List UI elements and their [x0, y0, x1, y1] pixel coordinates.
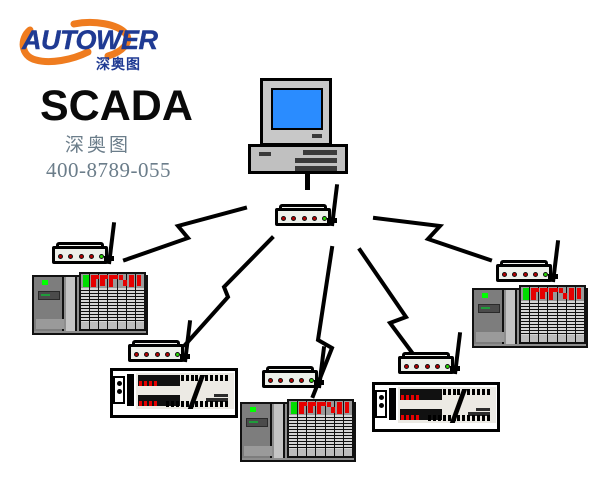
- wireless-link-site-2: [185, 238, 272, 345]
- plc-module-base: [127, 322, 135, 329]
- plc-io-bank: [519, 285, 586, 344]
- ap-led-2-icon: [68, 254, 73, 259]
- case-button-icon: [259, 152, 271, 156]
- plc-run-led-icon: [42, 280, 48, 285]
- plc-cpu-display: [38, 291, 60, 300]
- plc-io-led-group: [127, 274, 135, 288]
- controller-bottom-terminals: [428, 415, 490, 421]
- plc-terminal-rows: [539, 301, 547, 335]
- controller-knob-icon[interactable]: [375, 390, 387, 418]
- plc-io-led-group: [136, 274, 144, 288]
- central-access-point[interactable]: [275, 200, 339, 230]
- plc-io-module: [127, 274, 136, 329]
- plc-terminal-rows: [99, 288, 107, 322]
- plc-module-base: [316, 449, 324, 456]
- wireless-link-site-1: [125, 208, 245, 260]
- plc-io-module: [289, 401, 298, 456]
- plc-io-module: [530, 287, 539, 342]
- plc-io-led-group: [530, 287, 538, 301]
- plc-cpu-module: [242, 404, 272, 458]
- plc-io-module: [567, 287, 576, 342]
- site-2-access-point[interactable]: [128, 336, 192, 366]
- plc-cpu-display: [246, 418, 268, 427]
- case-drive-slot-1: [303, 150, 337, 155]
- plc-module-base: [558, 335, 566, 342]
- plc-cpu-module: [34, 277, 64, 331]
- plc-module-base: [521, 335, 529, 342]
- host-downlink-cable: [305, 172, 310, 190]
- controller-brandmark-2: [476, 408, 490, 411]
- plc-module-base: [539, 335, 547, 342]
- plc-io-led-group: [118, 274, 126, 288]
- case-drive-slot-2: [295, 158, 337, 163]
- wireless-link-site-5: [375, 218, 490, 260]
- ap-led-4-icon: [165, 352, 170, 357]
- plc-terminal-rows: [335, 415, 343, 449]
- controller-brandmark-2: [214, 394, 228, 397]
- ap-led-1-icon: [268, 378, 273, 383]
- plc-io-led-group: [539, 287, 547, 301]
- ap-led-3-icon: [79, 254, 84, 259]
- ap-led-3-icon: [425, 364, 430, 369]
- plc-terminal-rows: [530, 301, 538, 335]
- ap-led-3-icon: [155, 352, 160, 357]
- plc-terminal-rows: [136, 288, 144, 322]
- plc-terminal-rows: [558, 301, 566, 335]
- site-1-plc-rack[interactable]: [32, 275, 148, 335]
- plc-io-bank: [79, 272, 146, 331]
- plc-cpu-module: [474, 290, 504, 344]
- plc-terminal-rows: [307, 415, 315, 449]
- site-2-controller-panel[interactable]: [110, 368, 238, 418]
- ap-led-1-icon: [58, 254, 63, 259]
- plc-module-base: [81, 322, 89, 329]
- site-5-access-point[interactable]: [496, 256, 560, 286]
- plc-module-base: [530, 335, 538, 342]
- plc-io-module: [108, 274, 117, 329]
- plc-io-led-group: [307, 401, 315, 415]
- ap-led-1-icon: [134, 352, 139, 357]
- plc-terminal-rows: [548, 301, 556, 335]
- controller-side-bar: [389, 388, 396, 420]
- site-3-plc-rack[interactable]: [240, 402, 356, 462]
- ap-led-4-icon: [533, 272, 538, 277]
- monitor-screen: [271, 88, 323, 130]
- ap-led-4-icon: [89, 254, 94, 259]
- ap-led-2-icon: [512, 272, 517, 277]
- plc-io-led-group: [335, 401, 343, 415]
- plc-module-base: [576, 335, 584, 342]
- monitor-bezel: [260, 78, 332, 146]
- ap-led-4-icon: [299, 378, 304, 383]
- plc-spacer-module: [274, 404, 285, 458]
- site-1-access-point[interactable]: [52, 238, 116, 268]
- plc-module-base: [136, 322, 144, 329]
- ap-led-4-icon: [312, 216, 317, 221]
- plc-cpu-base: [476, 332, 504, 342]
- ap-led-strip: [58, 252, 104, 260]
- plc-module-base: [326, 449, 334, 456]
- plc-module-base: [90, 322, 98, 329]
- ap-led-strip: [502, 270, 548, 278]
- plc-terminal-rows: [289, 415, 297, 449]
- plc-io-module: [335, 401, 344, 456]
- site-4-access-point[interactable]: [398, 348, 462, 378]
- plc-io-module: [316, 401, 325, 456]
- ap-led-2-icon: [291, 216, 296, 221]
- ap-led-strip: [281, 214, 327, 222]
- plc-module-base: [289, 449, 297, 456]
- controller-display-top: [138, 375, 180, 386]
- ap-led-1-icon: [281, 216, 286, 221]
- plc-io-module: [558, 287, 567, 342]
- plc-io-module: [99, 274, 108, 329]
- plc-terminal-rows: [81, 288, 89, 322]
- ap-led-3-icon: [523, 272, 528, 277]
- scada-host-computer[interactable]: [248, 78, 348, 173]
- plc-io-module: [81, 274, 90, 329]
- site-4-controller-panel[interactable]: [372, 382, 500, 432]
- ap-led-strip: [268, 376, 314, 384]
- controller-bottom-terminals: [166, 401, 228, 407]
- controller-knob-icon[interactable]: [113, 376, 125, 404]
- plc-cpu-base: [36, 319, 64, 329]
- plc-run-led-icon: [482, 293, 488, 298]
- plc-terminal-rows: [326, 415, 334, 449]
- plc-module-base: [118, 322, 126, 329]
- plc-io-led-group: [298, 401, 306, 415]
- ap-led-2-icon: [414, 364, 419, 369]
- controller-side-bar: [127, 374, 134, 406]
- ap-led-3-icon: [302, 216, 307, 221]
- computer-case: [248, 144, 348, 174]
- plc-terminal-rows: [316, 415, 324, 449]
- plc-io-led-group: [326, 401, 334, 415]
- diagram-canvas: AUTOWER 深奥图 SCADA 深奥图 400-8789-055: [0, 0, 600, 480]
- plc-io-led-group: [99, 274, 107, 288]
- site-3-access-point[interactable]: [262, 362, 326, 392]
- plc-io-module: [307, 401, 316, 456]
- plc-module-base: [99, 322, 107, 329]
- controller-faceplate: [136, 373, 234, 409]
- plc-io-led-group: [316, 401, 324, 415]
- plc-module-base: [344, 449, 352, 456]
- plc-io-led-group: [289, 401, 297, 415]
- plc-terminal-rows: [576, 301, 584, 335]
- plc-terminal-rows: [567, 301, 575, 335]
- plc-io-module: [521, 287, 530, 342]
- plc-spacer-module: [66, 277, 77, 331]
- ap-led-strip: [404, 362, 450, 370]
- ap-led-2-icon: [144, 352, 149, 357]
- plc-io-module: [118, 274, 127, 329]
- plc-terminal-rows: [90, 288, 98, 322]
- ap-led-4-icon: [435, 364, 440, 369]
- plc-terminal-rows: [521, 301, 529, 335]
- plc-io-led-group: [108, 274, 116, 288]
- plc-io-module: [326, 401, 335, 456]
- case-drive-slot-3: [295, 166, 337, 171]
- monitor-indicator-icon: [312, 134, 322, 138]
- plc-io-led-group: [548, 287, 556, 301]
- plc-cpu-base: [244, 446, 272, 456]
- plc-io-module: [344, 401, 352, 456]
- ap-led-1-icon: [404, 364, 409, 369]
- plc-terminal-rows: [127, 288, 135, 322]
- plc-terminal-rows: [344, 415, 352, 449]
- ap-led-strip: [134, 350, 180, 358]
- plc-module-base: [335, 449, 343, 456]
- controller-display-top: [400, 389, 442, 400]
- plc-io-module: [539, 287, 548, 342]
- plc-io-bank: [287, 399, 354, 458]
- ap-led-2-icon: [278, 378, 283, 383]
- controller-faceplate: [398, 387, 496, 423]
- plc-io-led-group: [576, 287, 584, 301]
- ap-led-3-icon: [289, 378, 294, 383]
- site-5-plc-rack[interactable]: [472, 288, 588, 348]
- plc-module-base: [307, 449, 315, 456]
- plc-io-module: [90, 274, 99, 329]
- plc-io-module: [548, 287, 557, 342]
- plc-io-led-group: [90, 274, 98, 288]
- plc-module-base: [108, 322, 116, 329]
- plc-run-led-icon: [250, 407, 256, 412]
- plc-module-base: [567, 335, 575, 342]
- plc-terminal-rows: [108, 288, 116, 322]
- plc-terminal-rows: [118, 288, 126, 322]
- plc-io-module: [298, 401, 307, 456]
- plc-module-base: [548, 335, 556, 342]
- plc-io-module: [576, 287, 584, 342]
- plc-terminal-rows: [298, 415, 306, 449]
- plc-io-led-group: [81, 274, 89, 288]
- plc-io-led-group: [567, 287, 575, 301]
- plc-io-led-group: [344, 401, 352, 415]
- plc-spacer-module: [506, 290, 517, 344]
- plc-io-led-group: [521, 287, 529, 301]
- plc-io-module: [136, 274, 144, 329]
- plc-io-led-group: [558, 287, 566, 301]
- plc-module-base: [298, 449, 306, 456]
- ap-led-1-icon: [502, 272, 507, 277]
- plc-cpu-display: [478, 304, 500, 313]
